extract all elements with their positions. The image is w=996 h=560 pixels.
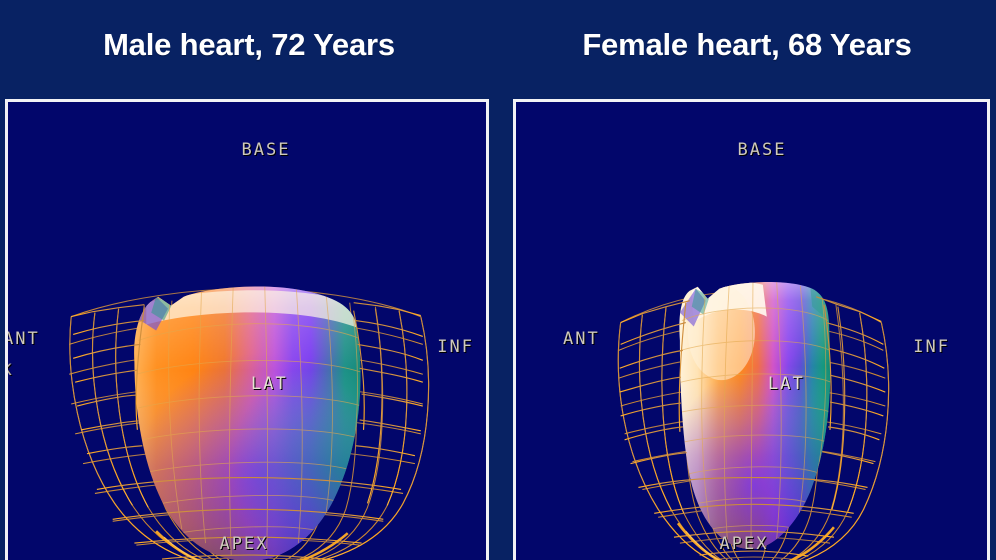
page-title-female: Female heart, 68 Years [582, 27, 911, 63]
heart-3d-render-female[interactable] [516, 102, 987, 560]
heart-svg-male [8, 102, 486, 560]
heart-3d-render-male[interactable] [8, 102, 486, 560]
title-cell-female: Female heart, 68 Years [498, 0, 996, 96]
viewport-female-heart[interactable]: BASE ANT INF LAT APEX [513, 99, 990, 560]
page-title-male: Male heart, 72 Years [103, 27, 395, 63]
viewport-male-heart[interactable]: BASE ANT INF LAT APEX K [5, 99, 489, 560]
titles-row: Male heart, 72 Years Female heart, 68 Ye… [0, 0, 996, 96]
title-cell-male: Male heart, 72 Years [0, 0, 498, 96]
slide-canvas: Male heart, 72 Years Female heart, 68 Ye… [0, 0, 996, 560]
heart-svg-female [516, 102, 987, 560]
